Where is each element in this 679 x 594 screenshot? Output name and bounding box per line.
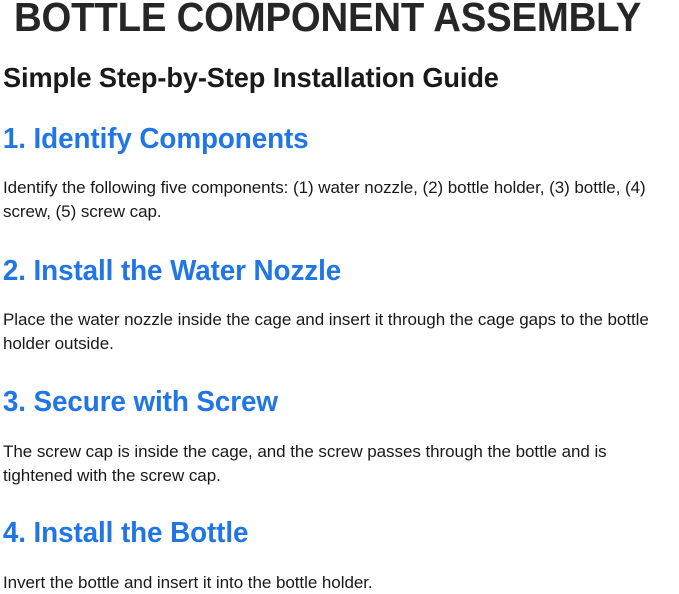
step-list: 1. Identify Components Identify the foll… <box>0 118 679 594</box>
step-item-4: 4. Install the Bottle Invert the bottle … <box>0 516 679 594</box>
step-heading-3: 3. Secure with Screw <box>0 385 652 419</box>
step-body-2: Place the water nozzle inside the cage a… <box>0 308 679 356</box>
page-title: BOTTLE COMPONENT ASSEMBLY <box>14 0 631 40</box>
step-heading-4: 4. Install the Bottle <box>0 516 652 550</box>
step-heading-2: 2. Install the Water Nozzle <box>0 254 652 288</box>
instruction-sheet: BOTTLE COMPONENT ASSEMBLY Simple Step-by… <box>0 0 679 594</box>
page-subtitle: Simple Step-by-Step Installation Guide <box>3 61 499 95</box>
step-item-3: 3. Secure with Screw The screw cap is in… <box>0 385 679 488</box>
step-body-1: Identify the following five components: … <box>0 176 679 224</box>
step-body-4: Invert the bottle and insert it into the… <box>0 571 679 594</box>
step-heading-1: 1. Identify Components <box>0 122 652 156</box>
step-item-2: 2. Install the Water Nozzle Place the wa… <box>0 254 679 356</box>
step-body-3: The screw cap is inside the cage, and th… <box>0 440 679 488</box>
step-item-1: 1. Identify Components Identify the foll… <box>0 122 679 224</box>
